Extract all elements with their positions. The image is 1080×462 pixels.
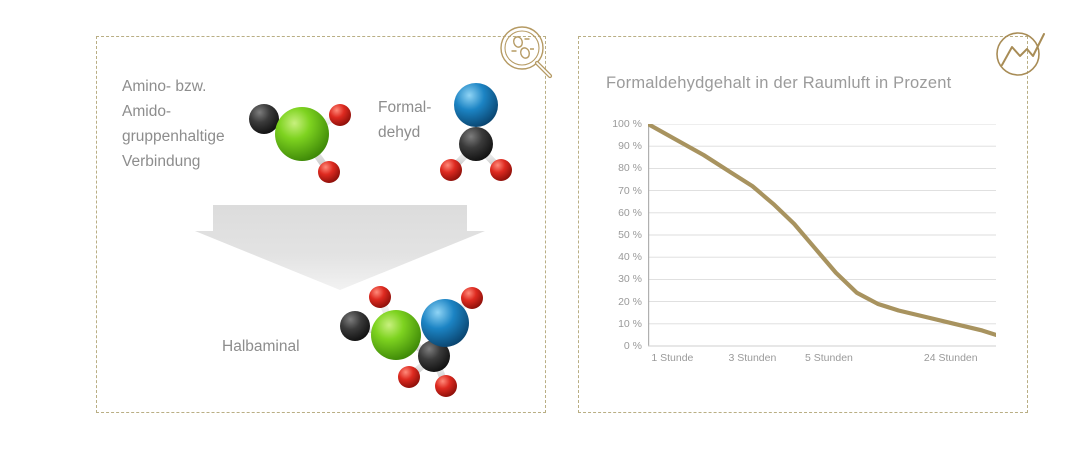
chart-title: Formaldehydgehalt in der Raumluft in Pro… [606, 74, 951, 93]
y-axis-tick: 100 % [612, 118, 642, 130]
y-axis-tick: 70 % [618, 185, 642, 197]
hemiaminal-molecule [330, 278, 500, 400]
x-axis-tick: 5 Stunden [805, 352, 853, 364]
down-arrow-icon [195, 205, 485, 290]
y-axis-tick: 0 % [624, 340, 642, 352]
formaldehyde-molecule [437, 72, 517, 187]
hemiaminal-label: Halbaminal [222, 338, 300, 356]
data-series-line [648, 124, 996, 335]
y-axis-tick: 60 % [618, 207, 642, 219]
line-chart: 100 %90 %80 %70 %60 %50 %40 %30 %20 %10 … [598, 124, 1018, 369]
x-axis-tick: 24 Stunden [924, 352, 978, 364]
x-axis-tick: 1 Stunde [651, 352, 693, 364]
amino-compound-molecule [236, 84, 358, 190]
y-axis-tick: 30 % [618, 273, 642, 285]
trend-chart-circle-icon [988, 22, 1052, 86]
y-axis-tick: 80 % [618, 162, 642, 174]
y-axis-tick: 20 % [618, 296, 642, 308]
chart-plot-area [648, 124, 996, 352]
x-axis-labels: 1 Stunde3 Stunden5 Stunden24 Stunden [598, 352, 1018, 372]
magnifier-molecule-icon [496, 22, 560, 86]
y-axis-tick: 40 % [618, 251, 642, 263]
y-axis-labels: 100 %90 %80 %70 %60 %50 %40 %30 %20 %10 … [598, 124, 642, 346]
x-axis-tick: 3 Stunden [728, 352, 776, 364]
y-axis-tick: 90 % [618, 140, 642, 152]
y-axis-tick: 10 % [618, 318, 642, 330]
y-axis-tick: 50 % [618, 229, 642, 241]
